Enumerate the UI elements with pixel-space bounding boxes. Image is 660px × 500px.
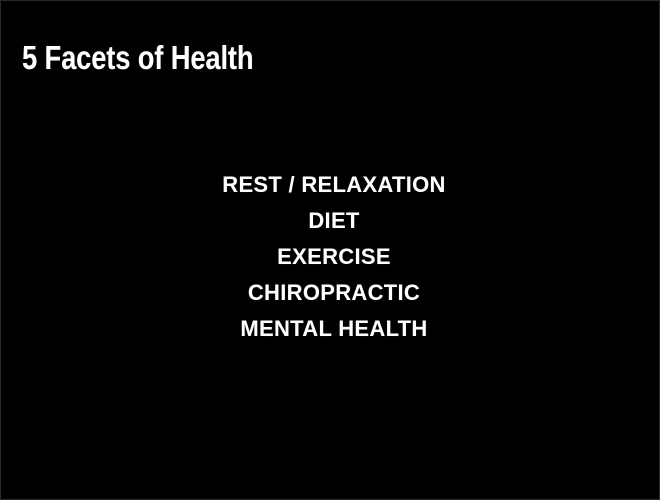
presentation-slide: 5 Facets of Health REST / RELAXATION DIE… <box>0 0 660 500</box>
list-item: DIET <box>1 203 659 239</box>
list-item: CHIROPRACTIC <box>1 275 659 311</box>
page-title: 5 Facets of Health <box>22 39 253 77</box>
list-item: EXERCISE <box>1 239 659 275</box>
list-item: MENTAL HEALTH <box>1 311 659 347</box>
facet-list: REST / RELAXATION DIET EXERCISE CHIROPRA… <box>1 167 659 347</box>
list-item: REST / RELAXATION <box>1 167 659 203</box>
